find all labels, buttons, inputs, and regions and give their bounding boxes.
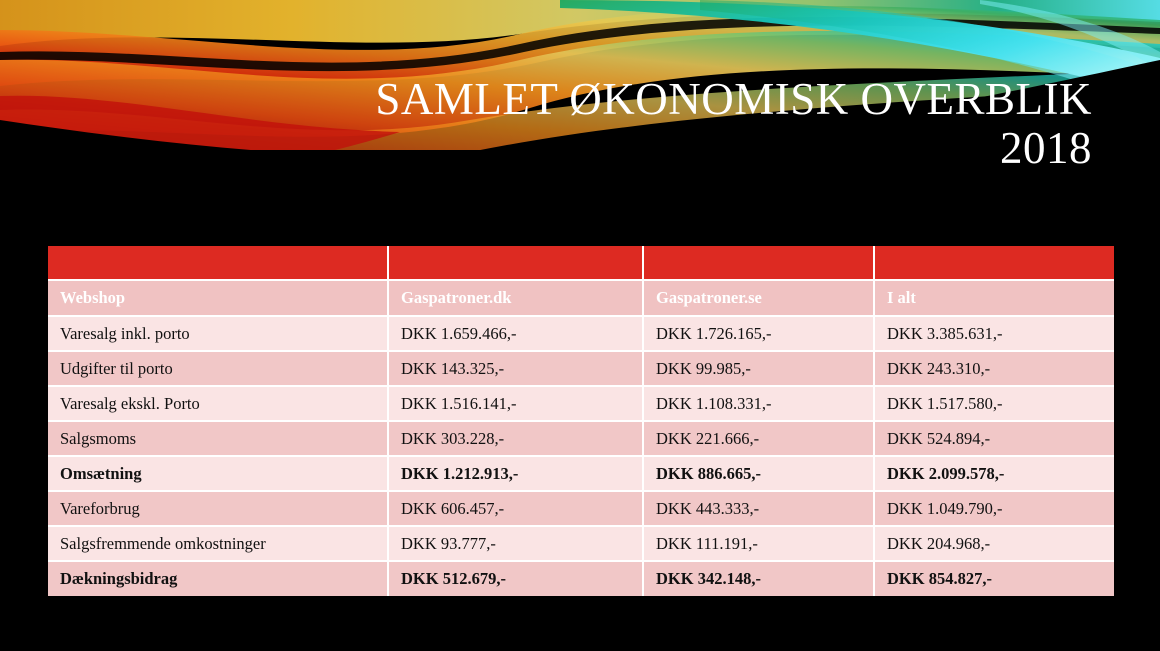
row-value-total: DKK 2.099.578,- (874, 456, 1114, 491)
row-value-dk: DKK 512.679,- (388, 561, 643, 596)
column-header-gaspatroner-se: Gaspatroner.se (643, 280, 874, 316)
row-value-se: DKK 342.148,- (643, 561, 874, 596)
row-value-dk: DKK 1.659.466,- (388, 316, 643, 351)
table-row: Udgifter til porto DKK 143.325,- DKK 99.… (48, 351, 1114, 386)
financial-table-container: Webshop Gaspatroner.dk Gaspatroner.se I … (48, 246, 1114, 596)
table-body: Webshop Gaspatroner.dk Gaspatroner.se I … (48, 246, 1114, 596)
accent-band-cell-3 (643, 246, 874, 280)
financial-overview-table: Webshop Gaspatroner.dk Gaspatroner.se I … (48, 246, 1114, 596)
table-row-total-daekningsbidrag: Dækningsbidrag DKK 512.679,- DKK 342.148… (48, 561, 1114, 596)
row-value-dk: DKK 1.212.913,- (388, 456, 643, 491)
slide-title-block: SAMLET ØKONOMISK OVERBLIK 2018 (60, 76, 1092, 175)
row-label: Dækningsbidrag (48, 561, 388, 596)
table-row: Varesalg inkl. porto DKK 1.659.466,- DKK… (48, 316, 1114, 351)
row-value-dk: DKK 93.777,- (388, 526, 643, 561)
table-row: Varesalg ekskl. Porto DKK 1.516.141,- DK… (48, 386, 1114, 421)
row-value-total: DKK 524.894,- (874, 421, 1114, 456)
row-label: Salgsmoms (48, 421, 388, 456)
row-label: Udgifter til porto (48, 351, 388, 386)
row-value-dk: DKK 143.325,- (388, 351, 643, 386)
row-value-se: DKK 99.985,- (643, 351, 874, 386)
row-value-total: DKK 204.968,- (874, 526, 1114, 561)
page-subtitle-year: 2018 (60, 123, 1092, 175)
row-value-total: DKK 1.517.580,- (874, 386, 1114, 421)
table-row: Salgsmoms DKK 303.228,- DKK 221.666,- DK… (48, 421, 1114, 456)
row-value-se: DKK 1.108.331,- (643, 386, 874, 421)
row-value-se: DKK 443.333,- (643, 491, 874, 526)
row-value-total: DKK 1.049.790,- (874, 491, 1114, 526)
accent-band-cell-2 (388, 246, 643, 280)
row-value-se: DKK 111.191,- (643, 526, 874, 561)
table-row: Vareforbrug DKK 606.457,- DKK 443.333,- … (48, 491, 1114, 526)
row-value-se: DKK 221.666,- (643, 421, 874, 456)
row-value-total: DKK 3.385.631,- (874, 316, 1114, 351)
row-label: Omsætning (48, 456, 388, 491)
row-value-dk: DKK 1.516.141,- (388, 386, 643, 421)
row-value-total: DKK 243.310,- (874, 351, 1114, 386)
row-label: Salgsfremmende omkostninger (48, 526, 388, 561)
table-row-total-omsaetning: Omsætning DKK 1.212.913,- DKK 886.665,- … (48, 456, 1114, 491)
presentation-slide: SAMLET ØKONOMISK OVERBLIK 2018 Webshop G… (0, 0, 1160, 651)
row-label: Varesalg inkl. porto (48, 316, 388, 351)
row-value-dk: DKK 303.228,- (388, 421, 643, 456)
column-header-i-alt: I alt (874, 280, 1114, 316)
row-value-se: DKK 1.726.165,- (643, 316, 874, 351)
row-value-dk: DKK 606.457,- (388, 491, 643, 526)
column-header-webshop: Webshop (48, 280, 388, 316)
row-value-se: DKK 886.665,- (643, 456, 874, 491)
accent-band-cell-1 (48, 246, 388, 280)
accent-band-cell-4 (874, 246, 1114, 280)
table-accent-band-row (48, 246, 1114, 280)
page-title: SAMLET ØKONOMISK OVERBLIK (60, 76, 1092, 123)
row-label: Varesalg ekskl. Porto (48, 386, 388, 421)
column-header-gaspatroner-dk: Gaspatroner.dk (388, 280, 643, 316)
row-value-total: DKK 854.827,- (874, 561, 1114, 596)
table-header-row: Webshop Gaspatroner.dk Gaspatroner.se I … (48, 280, 1114, 316)
row-label: Vareforbrug (48, 491, 388, 526)
table-row: Salgsfremmende omkostninger DKK 93.777,-… (48, 526, 1114, 561)
